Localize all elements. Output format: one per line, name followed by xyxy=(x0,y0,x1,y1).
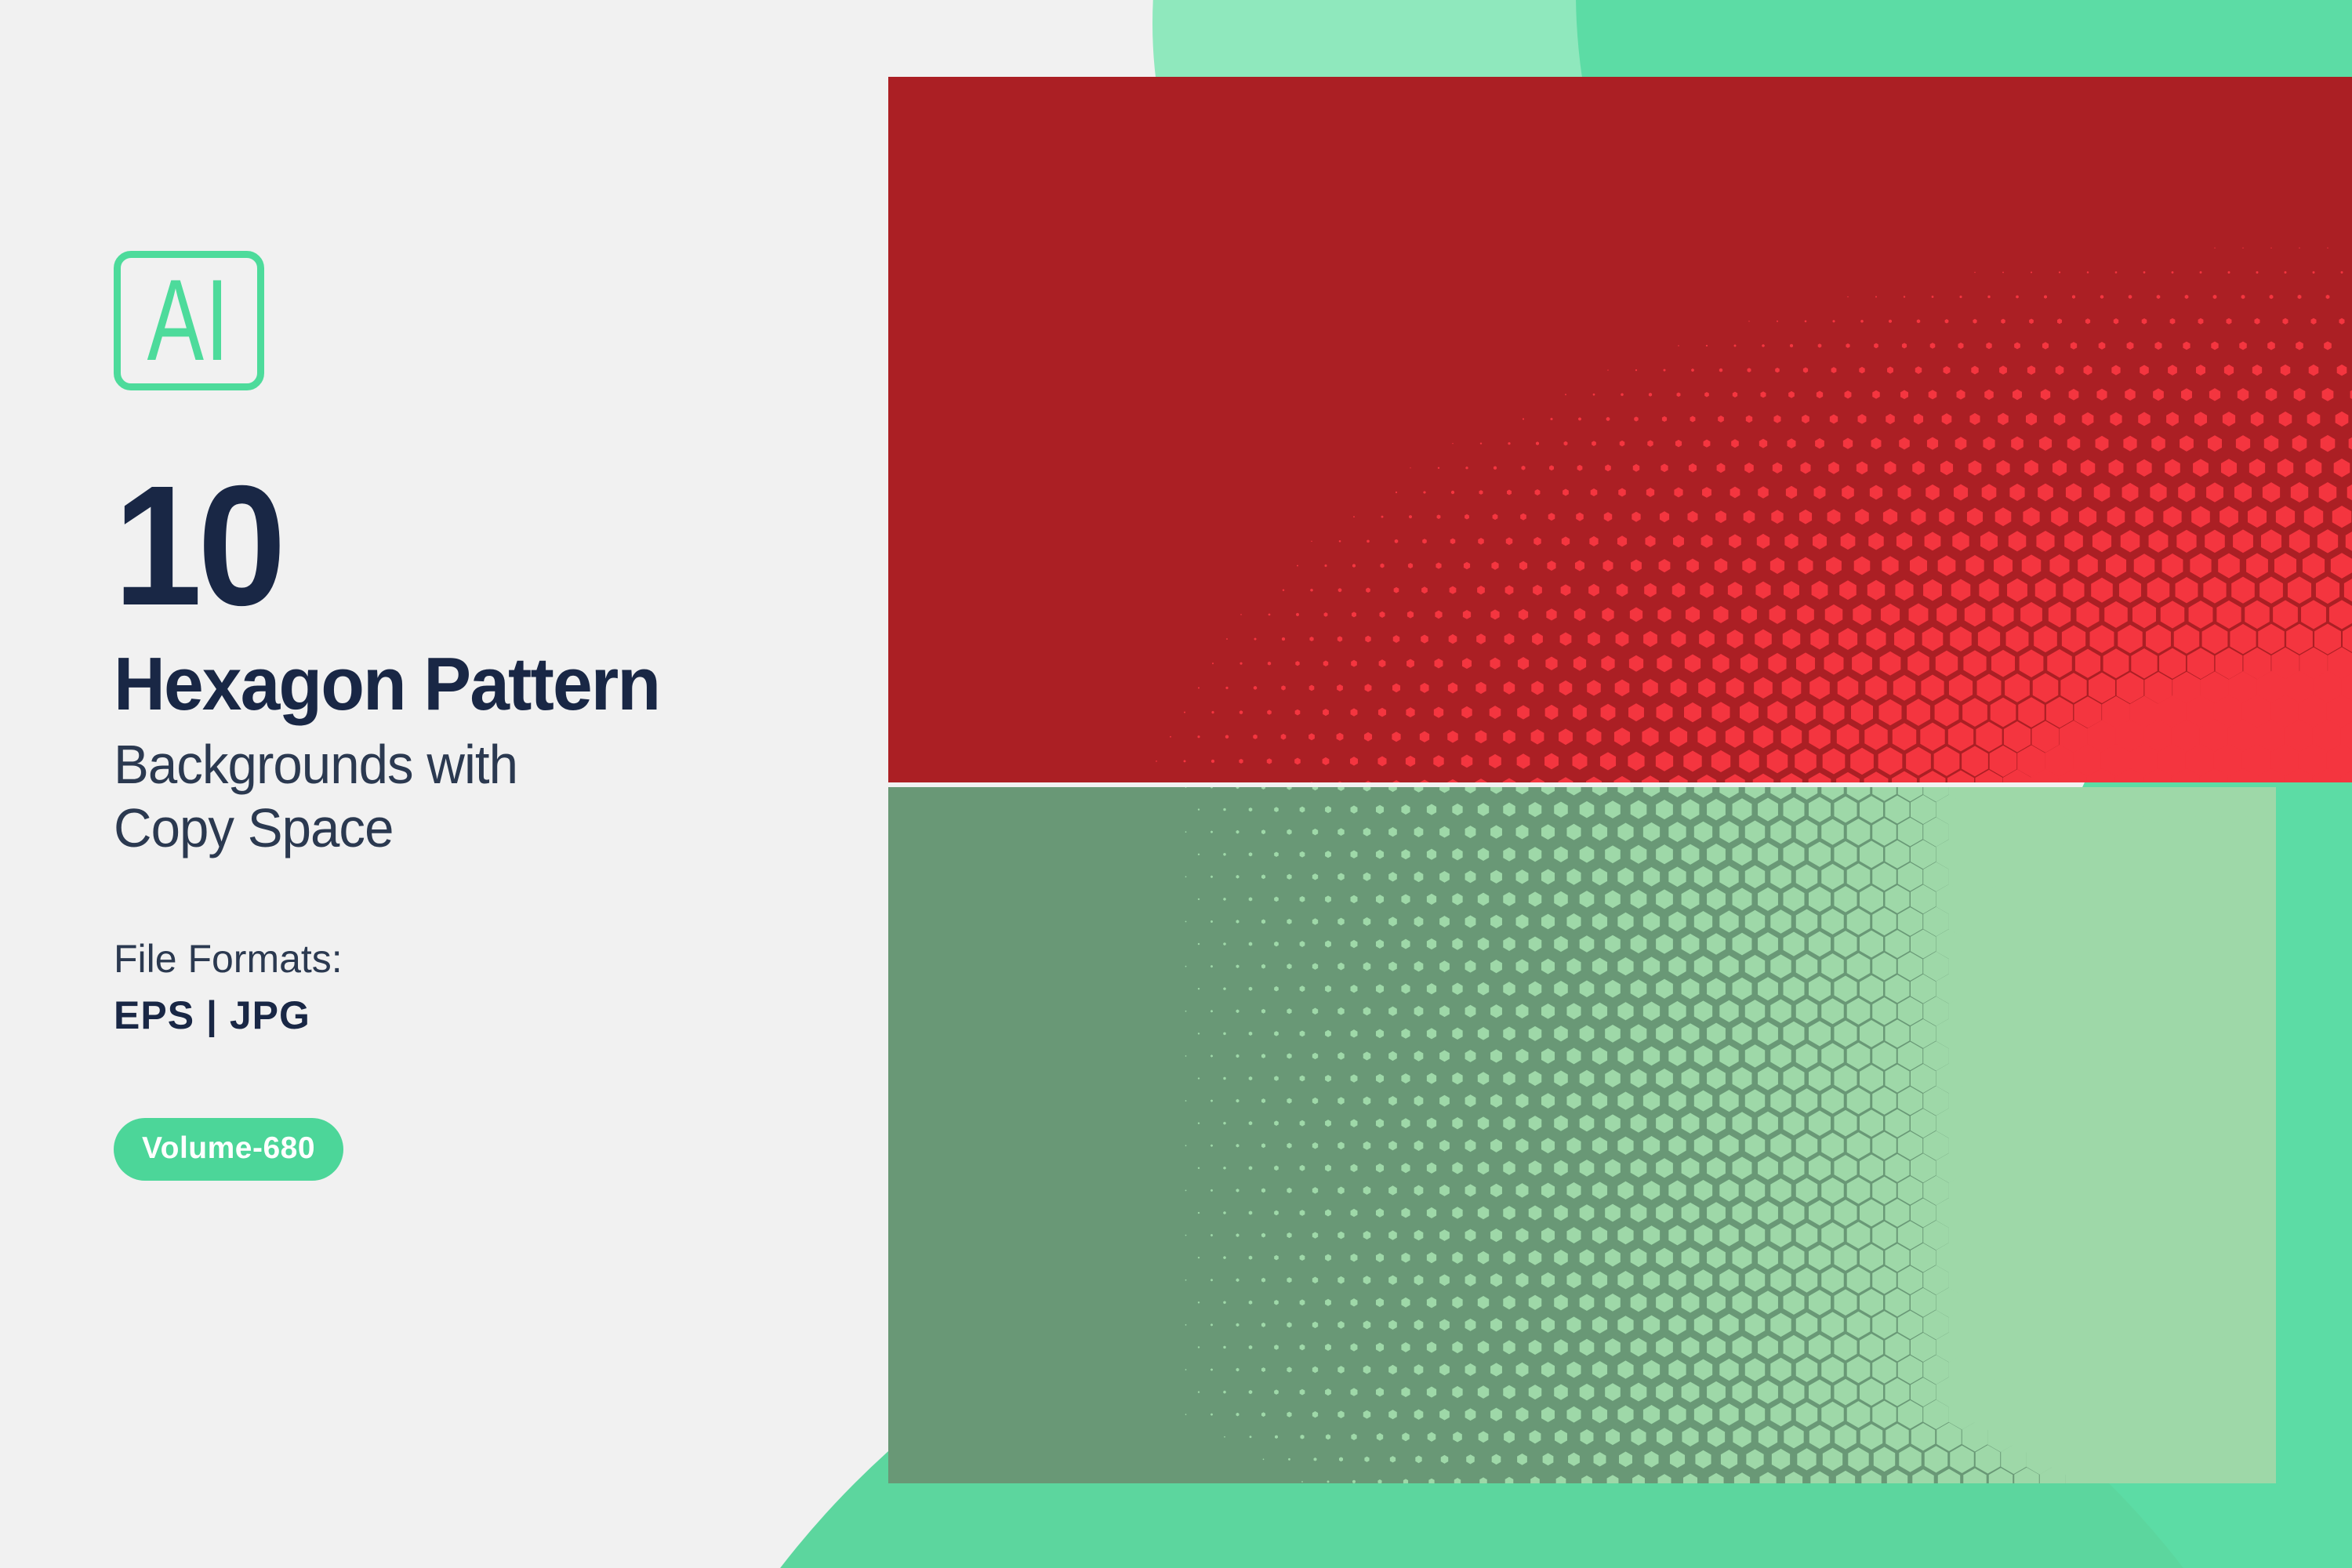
preview-panel-green[interactable] xyxy=(888,787,2276,1483)
volume-badge[interactable]: Volume-680 xyxy=(114,1118,343,1181)
page-subtitle-line-2: Copy Space xyxy=(114,797,821,860)
page-subtitle-line-1: Backgrounds with xyxy=(114,733,821,797)
poster-canvas: AI 10 Hexagon Pattern Backgrounds with C… xyxy=(0,0,2352,1568)
red-hexagon-pattern xyxy=(888,77,2352,782)
preview-panel-red[interactable] xyxy=(888,77,2352,782)
page-title: Hexagon Pattern xyxy=(114,647,814,722)
ai-format-badge-icon: AI xyxy=(114,251,264,390)
info-column: AI 10 Hexagon Pattern Backgrounds with C… xyxy=(114,251,851,1181)
ai-badge-label: AI xyxy=(147,263,230,379)
green-hexagon-pattern xyxy=(888,787,2276,1483)
file-formats-value: EPS | JPG xyxy=(114,993,851,1038)
item-count: 10 xyxy=(114,474,799,619)
file-formats-label: File Formats: xyxy=(114,936,851,982)
